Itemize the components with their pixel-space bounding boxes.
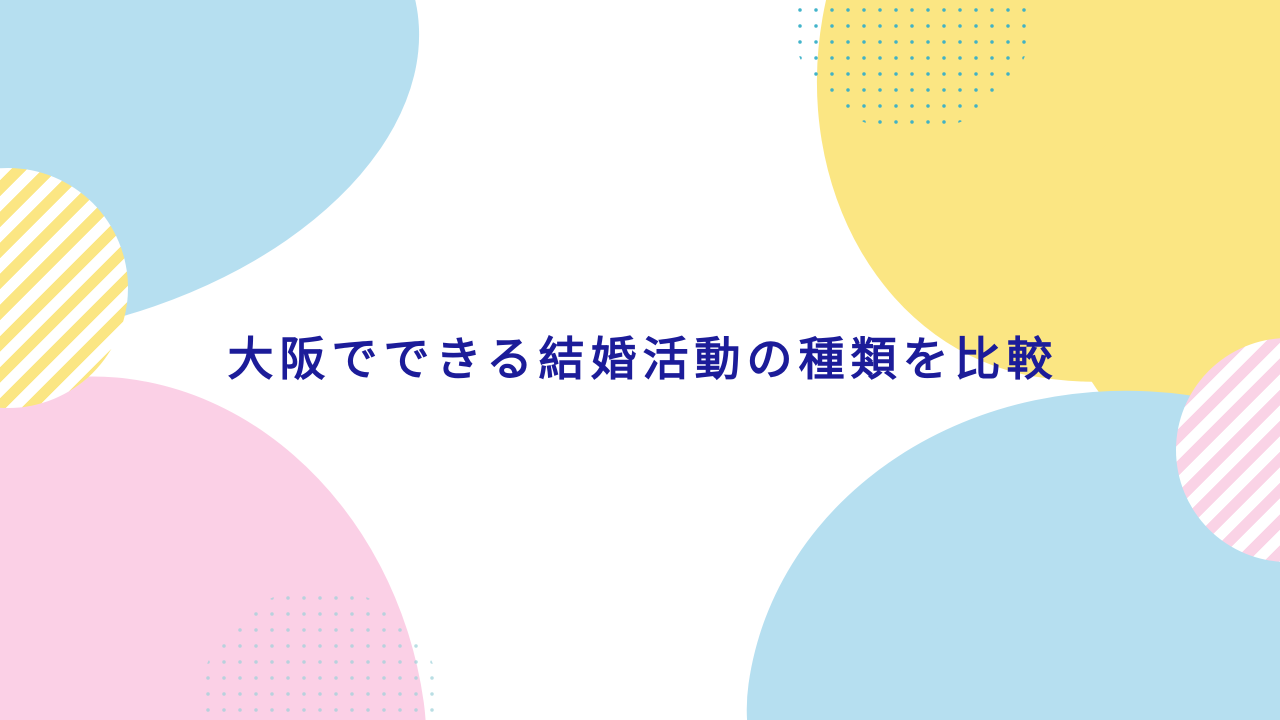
page-title: 大阪でできる結婚活動の種類を比較 — [221, 331, 1058, 389]
slide-canvas: 大阪でできる結婚活動の種類を比較 — [0, 0, 1280, 720]
title-container: 大阪でできる結婚活動の種類を比較 — [0, 0, 1280, 720]
